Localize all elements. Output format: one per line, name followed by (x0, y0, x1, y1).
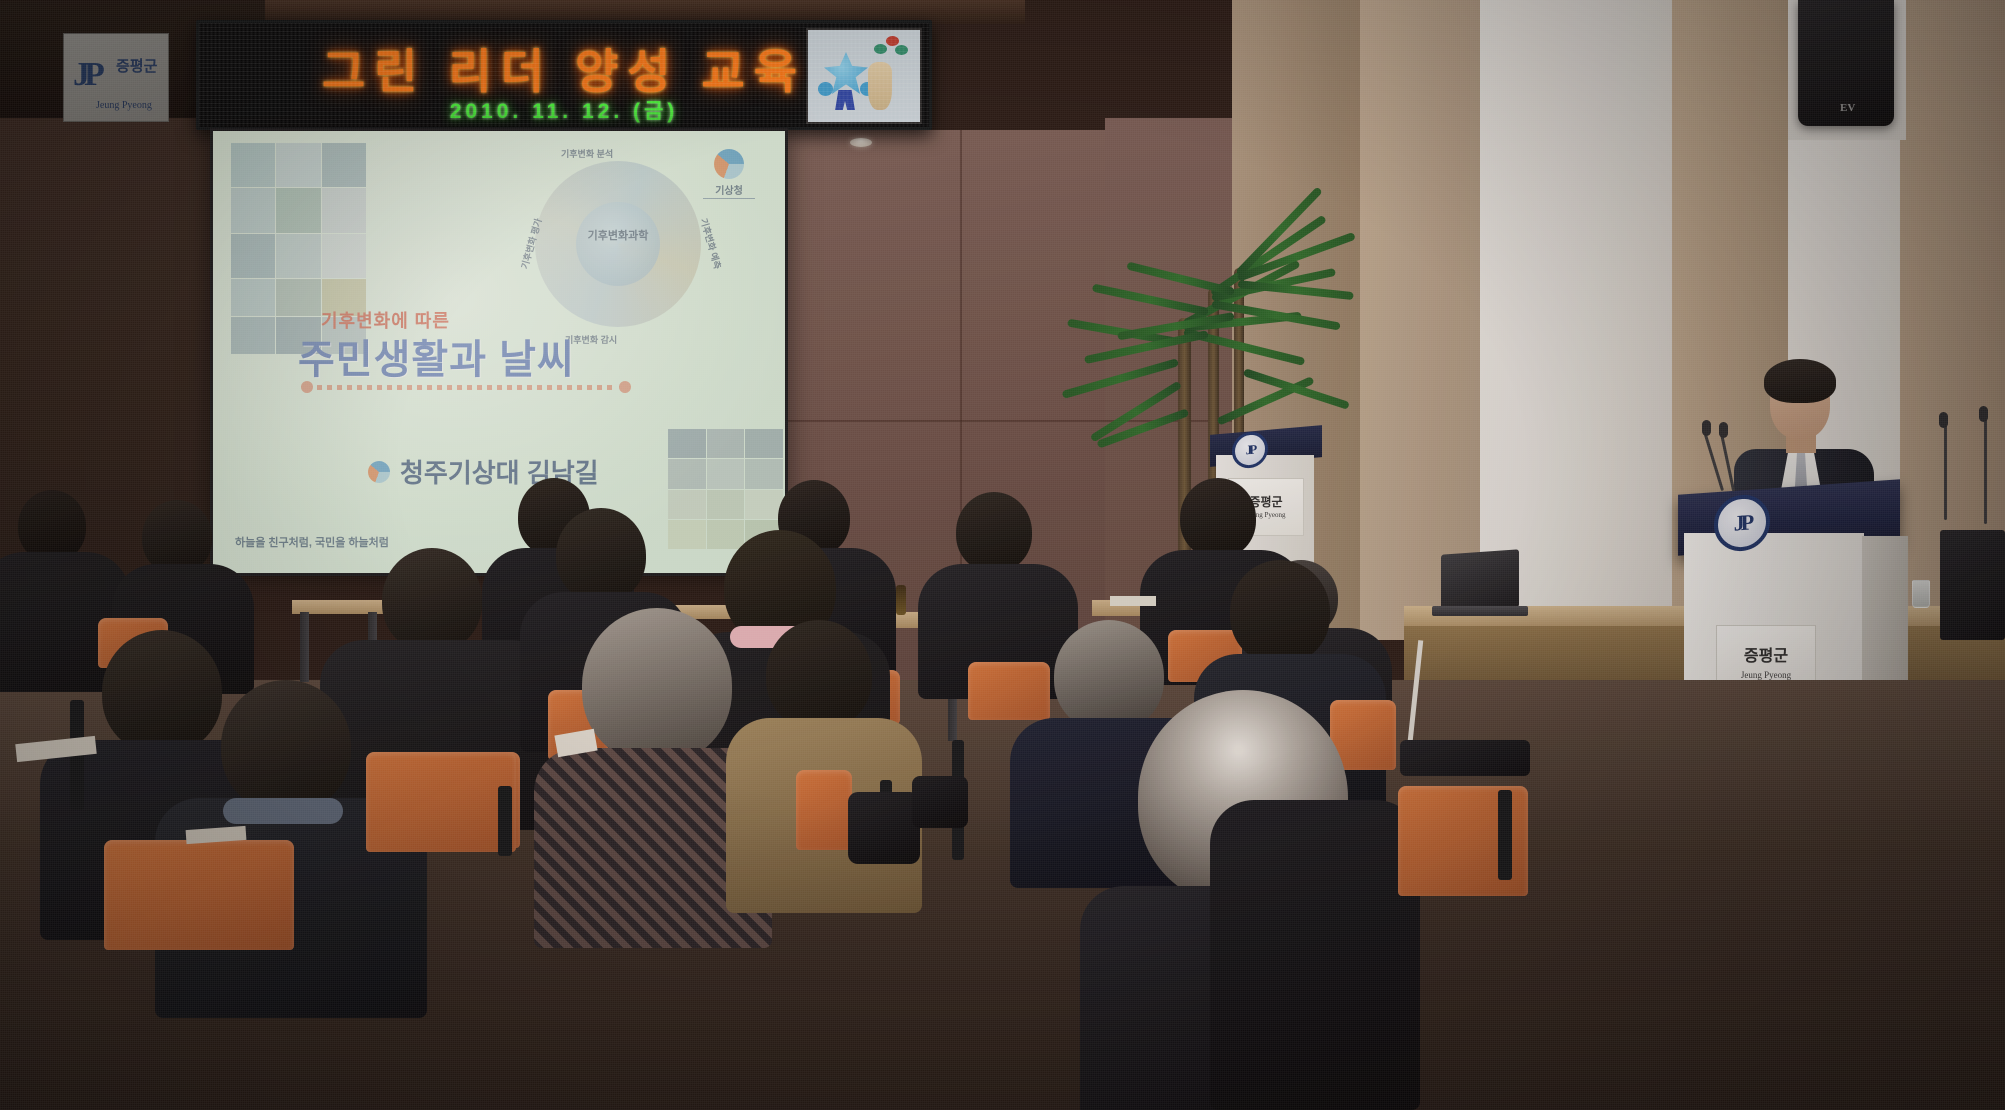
person-head (1230, 560, 1330, 664)
person-head (1180, 478, 1256, 558)
wheel-label-top: 기후변화 분석 (561, 147, 613, 160)
floor-speaker (1940, 530, 2005, 640)
wall-pilaster-b (1360, 0, 1490, 640)
bag-on-floor (912, 776, 968, 828)
microphone-head (1939, 412, 1948, 428)
ginseng-radish-character-icon (868, 62, 892, 110)
wall-logo-plate: JP 증평군 Jeung Pyeong (63, 33, 169, 122)
photo-mosaic-top (231, 143, 366, 278)
person-head (382, 548, 482, 652)
microphone-stem (1944, 420, 1947, 520)
podium-sign-korean: 증평군 (1744, 649, 1788, 665)
person-head (582, 608, 732, 763)
chair-arm (1498, 790, 1512, 880)
chair-back (796, 770, 852, 850)
radish-leaf-icon (874, 36, 908, 62)
chair-back (104, 840, 294, 950)
divider-dashes (317, 385, 615, 390)
climate-change-wheel-diagram: 기후변화과학 기후변화 분석 기후변화 감시 기후변화 평가 기후변화 예측 (513, 149, 723, 349)
audience-person (1210, 740, 1410, 1110)
handout-paper (1110, 596, 1156, 606)
person-head (142, 500, 212, 574)
blue-star-legs (834, 90, 856, 110)
kma-logo-group: 기상청 (703, 149, 755, 199)
chair-back (366, 752, 516, 852)
presentation-slide: 기후변화과학 기후변화 분석 기후변화 감시 기후변화 평가 기후변화 예측 기… (213, 131, 785, 573)
podium-sign-english: Jeung Pyeong (1741, 670, 1791, 680)
divider-cap-left (301, 381, 313, 393)
audience-person (730, 620, 910, 910)
chair-arm (498, 786, 512, 856)
divider-cap-right (619, 381, 631, 393)
laptop-screen (1441, 549, 1519, 612)
bottle (896, 585, 906, 615)
microphone-head (1702, 420, 1711, 436)
laptop-base (1432, 606, 1528, 616)
jp-monogram-icon: JP (73, 56, 99, 94)
bag-on-floor (848, 792, 920, 864)
kma-sphere-icon (714, 149, 744, 179)
person-head (221, 680, 351, 812)
speaker-hair (1764, 359, 1836, 403)
person-shoulders (1210, 800, 1420, 1110)
lectern-emblem-monogram: JP (1246, 442, 1254, 459)
star-arm-left (818, 82, 833, 96)
equipment-case (1400, 740, 1530, 776)
kma-logo-label: 기상청 (703, 182, 755, 199)
podium-emblem-monogram: JP (1734, 509, 1750, 536)
wheel-globe (576, 202, 660, 286)
wall-speaker: EV (1798, 0, 1894, 126)
desk-leg (300, 612, 309, 682)
projection-screen: 기후변화과학 기후변화 분석 기후변화 감시 기후변화 평가 기후변화 예측 기… (210, 128, 788, 576)
microphone-head (1979, 406, 1988, 422)
slide-title: 주민생활과 날씨 (298, 327, 575, 385)
mascot-panel (806, 28, 922, 124)
person-head (556, 508, 646, 602)
person-collar (223, 798, 343, 824)
slide-divider (301, 381, 631, 393)
ceiling-light (850, 138, 872, 147)
lecture-hall-photo: EV JP 증평군 Jeung Pyeong 그린 리더 양성 교육 2010.… (0, 0, 2005, 1110)
wheel-label-right: 기후변화 예측 (698, 217, 725, 271)
wall-logo-english: Jeung Pyeong (96, 100, 152, 111)
microphone-head (1719, 422, 1728, 438)
water-glass (1912, 580, 1930, 608)
person-head (766, 620, 872, 730)
wheel-center-label: 기후변화과학 (576, 227, 660, 243)
kma-sphere-icon-small (368, 461, 390, 483)
microphone-stem (1984, 414, 1987, 524)
wall-pilaster-f (1900, 0, 2005, 620)
speaker-brand-label: EV (1840, 102, 1855, 114)
wall-logo-korean: 증평군 (116, 60, 157, 74)
person-head (956, 492, 1032, 572)
